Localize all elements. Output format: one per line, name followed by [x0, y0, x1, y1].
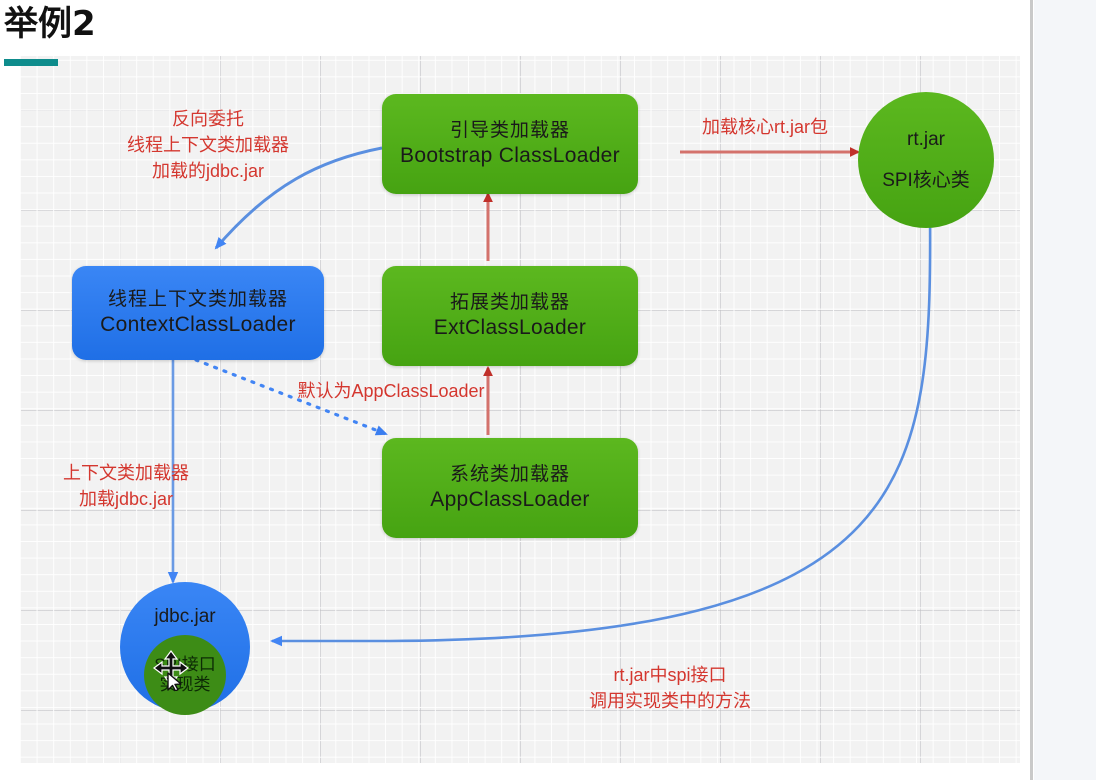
node-jdbcjar-line1: jdbc.jar	[154, 606, 215, 628]
node-context-classloader[interactable]: 线程上下文类加载器 ContextClassLoader	[72, 266, 324, 360]
title-underline	[4, 59, 58, 66]
node-ext-classloader[interactable]: 拓展类加载器 ExtClassLoader	[382, 266, 638, 366]
node-rtjar-line2: SPI核心类	[882, 165, 970, 192]
annotation-load-rt-jar: 加载核心rt.jar包	[680, 114, 850, 140]
node-ext-en: ExtClassLoader	[434, 315, 586, 341]
move-cursor	[148, 645, 194, 691]
right-side-panel	[1034, 0, 1096, 780]
annotation-spi-invoke: rt.jar中spi接口 调用实现类中的方法	[540, 662, 800, 714]
annotation-reverse-delegate: 反向委托 线程上下文类加载器 加载的jdbc.jar	[98, 106, 318, 184]
node-context-cn: 线程上下文类加载器	[108, 288, 288, 312]
node-bootstrap-classloader[interactable]: 引导类加载器 Bootstrap ClassLoader	[382, 94, 638, 194]
annotation-context-loads-jdbc: 上下文类加载器 加载jdbc.jar	[36, 460, 216, 512]
node-rtjar-circle[interactable]: rt.jar SPI核心类	[858, 92, 994, 228]
node-bootstrap-cn: 引导类加载器	[450, 119, 570, 143]
node-context-en: ContextClassLoader	[100, 312, 296, 338]
annotation-default-appclassloader: 默认为AppClassLoader	[266, 378, 516, 404]
node-rtjar-line1: rt.jar	[907, 129, 945, 151]
node-bootstrap-en: Bootstrap ClassLoader	[400, 143, 620, 169]
node-app-classloader[interactable]: 系统类加载器 AppClassLoader	[382, 438, 638, 538]
node-ext-cn: 拓展类加载器	[450, 291, 570, 315]
panel-divider	[1030, 0, 1033, 780]
node-app-cn: 系统类加载器	[450, 463, 570, 487]
page-title: 举例2	[4, 4, 96, 44]
node-app-en: AppClassLoader	[430, 487, 589, 513]
screenshot-root: 引导类加载器 Bootstrap ClassLoader 拓展类加载器 ExtC…	[0, 0, 1096, 780]
